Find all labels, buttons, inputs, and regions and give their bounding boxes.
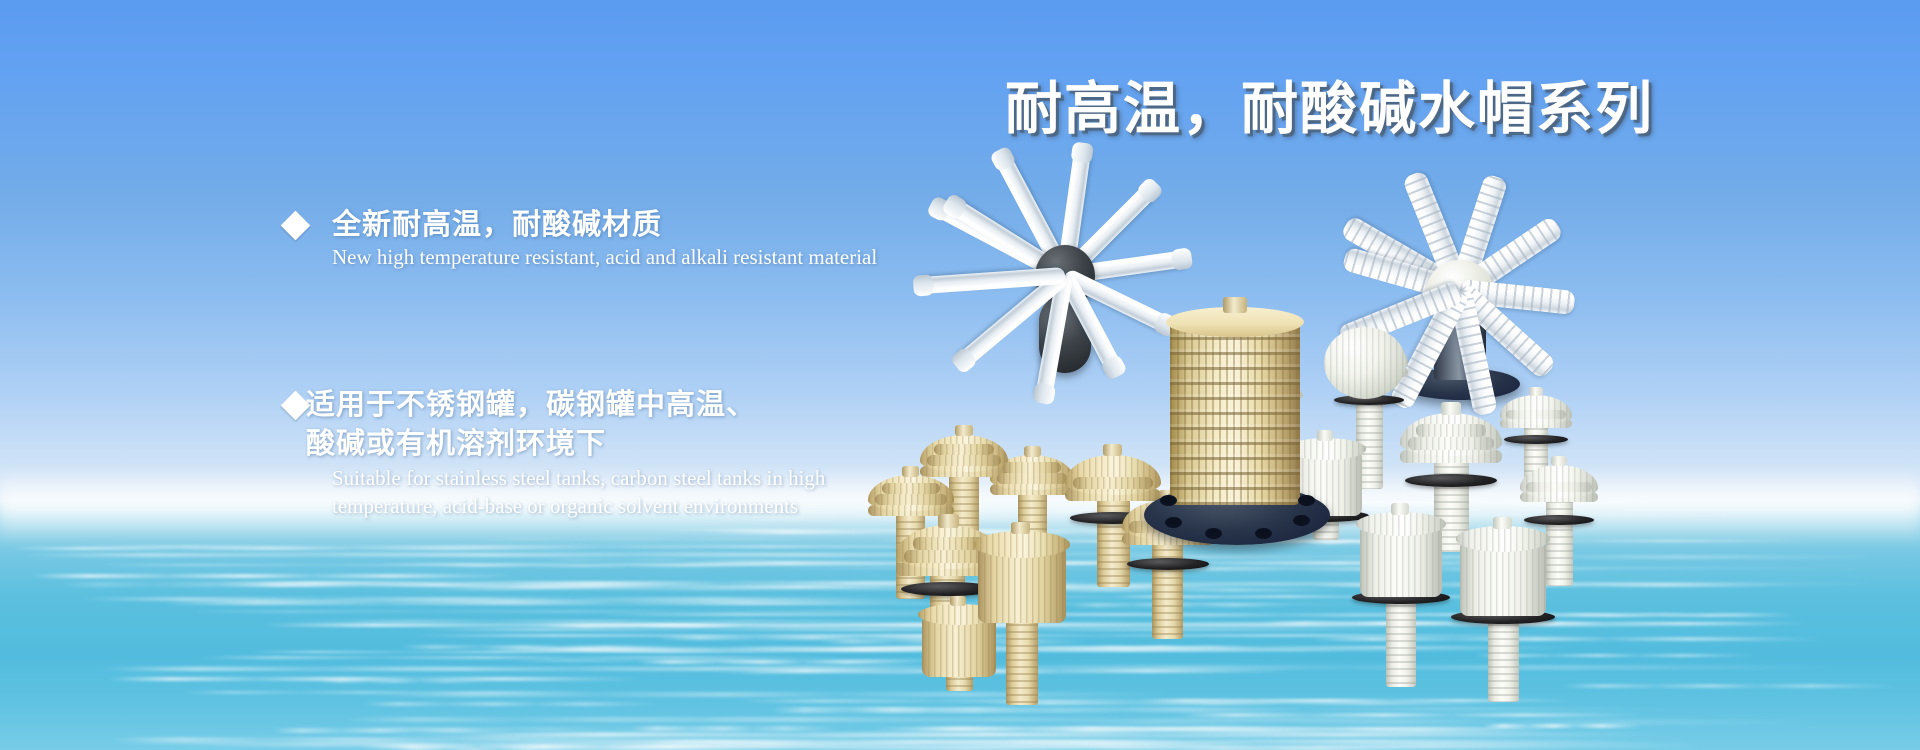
feature-bullet-2: 适用于不锈钢罐，碳钢罐中高温、 酸碱或有机溶剂环境下 Suitable for … [285,385,825,519]
bullet-row: 适用于不锈钢罐，碳钢罐中高温、 酸碱或有机溶剂环境下 [285,385,825,463]
cap-gasket [1504,435,1569,444]
flange-bolt-hole [1165,517,1182,528]
flange-bolt-hole [1205,528,1222,539]
bullet-1-en-line-1: New high temperature resistant, acid and… [332,244,877,270]
cap-knob [955,425,973,436]
cap-knob [1529,387,1543,396]
cap-tier [927,455,1001,466]
cap-gasket [1405,474,1497,487]
bullet-2-cn-line-1: 适用于不锈钢罐，碳钢罐中高温、 [306,385,756,424]
bullet-2-en-line-1: Suitable for stainless steel tanks, carb… [332,465,825,491]
cap-tier [875,494,947,505]
drum-knob [1317,430,1333,441]
cap-tier [882,483,940,494]
drum-top [974,531,1071,558]
ripple-streak [710,671,1130,674]
cap-knob [1551,456,1567,466]
ripple-streak [319,680,492,683]
page-title: 耐高温，耐酸碱水帽系列 [1005,63,1654,145]
ripple-streak [200,656,843,659]
cap-gasket [1127,558,1210,570]
bullet-1-cn-line-1: 全新耐高温，耐酸碱材质 [332,205,662,244]
ripple-streak [348,620,882,623]
drum-knob [950,596,966,606]
flange-bolt-hole [1298,495,1315,506]
cap-knob [1024,446,1041,457]
ripple-streak [772,707,1047,713]
flange-bolt-hole [1160,495,1177,506]
drum-top [1356,512,1446,536]
ripple-streak [664,665,1839,670]
flange-bolt-hole [1255,528,1272,539]
ripple-streak [620,717,1499,722]
promo-banner: 耐高温，耐酸碱水帽系列 全新耐高温，耐酸碱材质 New high tempera… [0,0,1920,750]
ripple-streak [541,559,814,562]
filter-cylinder-knob [1223,297,1247,313]
cap-dome [1065,455,1161,495]
cap-tier [1003,462,1060,473]
product-showcase [860,145,1920,665]
ripple-streak [367,727,782,731]
cap-tier [1073,477,1154,489]
ripple-streak [250,651,814,654]
bullet-2-en-line-2: temperature, acid-base or organic solven… [332,493,825,519]
flange-bolt-hole [1293,515,1310,526]
ripple-streak [31,574,517,577]
cap-tier [913,537,984,550]
cap-tier [1526,482,1592,492]
ripple-streak [363,702,661,707]
diamond-marker-icon [281,211,311,241]
cap-knob [938,514,959,528]
cap-gasket [1524,515,1594,525]
filter-cylinder [1170,320,1300,505]
cap-tier [1506,410,1566,419]
cap-tier [934,444,994,455]
bullet-row: 全新耐高温，耐酸碱材质 [285,205,877,244]
cap-knob [902,466,919,477]
drum-stem [1386,591,1416,687]
ripple-streak [163,600,946,605]
ripple-streak [555,739,1642,743]
cap-stem [1152,535,1183,639]
ripple-streak [1563,684,1897,688]
cap-knob [1441,402,1461,415]
cap-tier [997,473,1068,484]
drum-knob [1391,503,1409,515]
cap-tier [1408,437,1494,450]
sphere-strainer-head [1324,327,1406,399]
feature-bullet-1: 全新耐高温，耐酸碱材质 New high temperature resista… [285,205,877,270]
drum-knob [1011,522,1030,534]
ripple-streak [987,702,1505,706]
drum-stem [1006,617,1038,705]
ripple-streak [1027,727,1559,732]
cap-tier [1416,424,1485,437]
cap-knob [1103,444,1122,456]
bullet-2-cn-line-2: 酸碱或有机溶剂环境下 [306,424,756,463]
drum-knob [1493,517,1512,529]
ripple-streak [184,691,597,694]
